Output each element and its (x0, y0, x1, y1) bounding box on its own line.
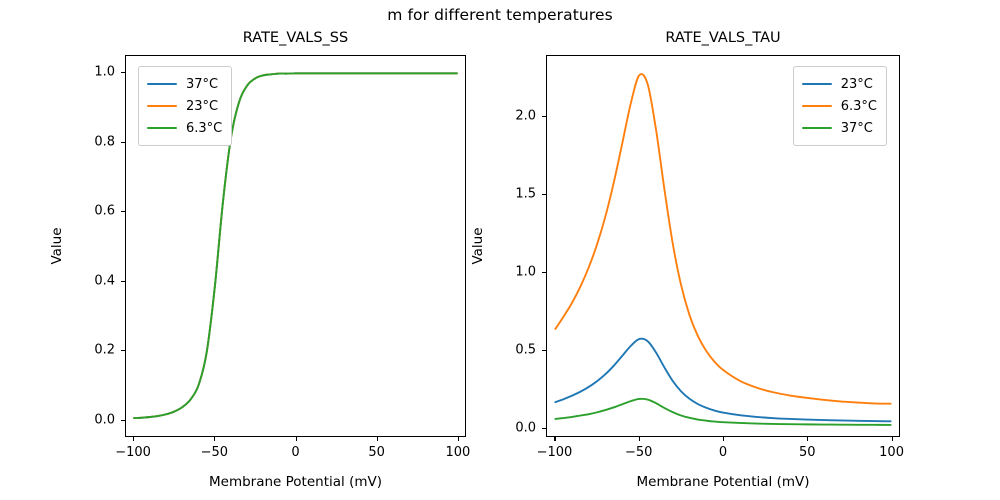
matplotlib-figure: m for different temperatures RATE_VALS_S… (0, 0, 1000, 500)
y-tick-mark (542, 272, 546, 273)
x-tick-mark (807, 437, 808, 441)
legend-line-swatch-icon (147, 105, 177, 107)
y-tick-mark (542, 428, 546, 429)
y-tick-label: 0.0 (57, 412, 115, 427)
x-tick-label: 50 (799, 445, 816, 460)
x-axis-label: Membrane Potential (mV) (546, 474, 900, 490)
x-tick-mark (554, 437, 555, 441)
legend-item-label: 37°C (841, 121, 873, 136)
legend-item-label: 37°C (186, 77, 218, 92)
y-axis-label: Value (49, 227, 65, 264)
y-tick-label: 0.2 (57, 343, 115, 358)
y-tick-mark (121, 420, 125, 421)
line-series-23C (555, 339, 890, 422)
legend-line-swatch-icon (147, 83, 177, 85)
x-tick-mark (214, 437, 215, 441)
legend-left: 37°C23°C6.3°C (138, 66, 232, 146)
y-tick-label: 2.0 (478, 108, 536, 123)
x-tick-label: 0 (291, 445, 299, 460)
y-tick-mark (542, 116, 546, 117)
x-tick-mark (296, 437, 297, 441)
y-tick-mark (121, 72, 125, 73)
x-tick-label: −100 (537, 445, 573, 460)
x-axis-label: Membrane Potential (mV) (125, 474, 466, 490)
legend-item-label: 23°C (841, 77, 873, 92)
legend-item-label: 6.3°C (186, 121, 222, 136)
figure-suptitle: m for different temperatures (0, 6, 1000, 24)
y-tick-label: 0.6 (57, 204, 115, 219)
axes-rate-vals-tau: RATE_VALS_TAU 23°C6.3°C37°C (546, 55, 900, 437)
legend-line-swatch-icon (147, 127, 177, 129)
y-tick-label: 1.5 (478, 186, 536, 201)
y-tick-mark (121, 281, 125, 282)
y-tick-label: 1.0 (478, 264, 536, 279)
y-tick-mark (542, 350, 546, 351)
x-tick-label: 100 (445, 445, 470, 460)
legend-item-label: 6.3°C (841, 99, 877, 114)
x-tick-label: −50 (201, 445, 228, 460)
legend-item: 23°C (147, 95, 222, 117)
legend-item: 6.3°C (147, 117, 222, 139)
y-tick-mark (121, 350, 125, 351)
legend-item: 37°C (802, 117, 877, 139)
x-tick-label: 0 (719, 445, 727, 460)
axes-rate-vals-ss: RATE_VALS_SS 37°C23°C6.3°C (125, 55, 466, 437)
x-tick-label: −50 (625, 445, 652, 460)
x-tick-label: 50 (368, 445, 385, 460)
axes-title-left: RATE_VALS_SS (126, 30, 465, 46)
y-tick-mark (542, 194, 546, 195)
x-tick-mark (377, 437, 378, 441)
legend-item: 37°C (147, 73, 222, 95)
y-tick-label: 0.0 (478, 420, 536, 435)
legend-item-label: 23°C (186, 99, 218, 114)
legend-line-swatch-icon (802, 127, 832, 129)
x-tick-label: 100 (879, 445, 904, 460)
y-tick-label: 0.8 (57, 134, 115, 149)
x-tick-mark (133, 437, 134, 441)
axes-title-right: RATE_VALS_TAU (547, 30, 899, 46)
x-tick-mark (639, 437, 640, 441)
legend-item: 23°C (802, 73, 877, 95)
x-tick-mark (723, 437, 724, 441)
y-tick-label: 0.4 (57, 273, 115, 288)
y-tick-label: 1.0 (57, 65, 115, 80)
x-tick-mark (892, 437, 893, 441)
legend-line-swatch-icon (802, 83, 832, 85)
legend-item: 6.3°C (802, 95, 877, 117)
y-tick-mark (121, 142, 125, 143)
y-tick-mark (121, 211, 125, 212)
y-tick-label: 0.5 (478, 342, 536, 357)
legend-line-swatch-icon (802, 105, 832, 107)
x-tick-label: −100 (115, 445, 151, 460)
y-axis-label: Value (470, 227, 486, 264)
x-tick-mark (458, 437, 459, 441)
legend-right: 23°C6.3°C37°C (793, 66, 887, 146)
